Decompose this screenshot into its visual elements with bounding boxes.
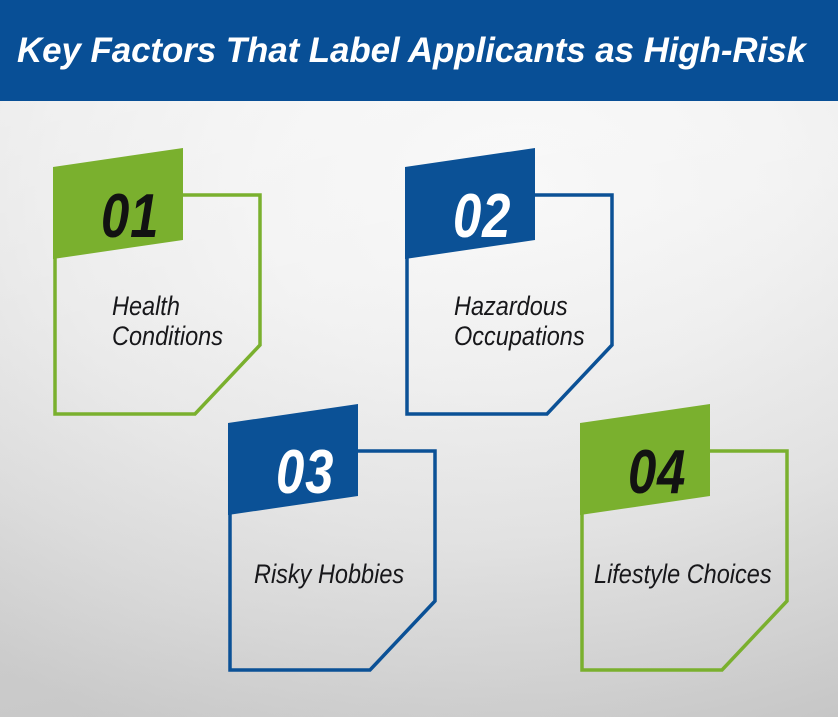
number-banner-01 [53, 148, 183, 259]
card-shape-01 [44, 140, 274, 425]
card-shape-04 [571, 396, 801, 681]
factor-card-01[interactable]: 01 Health Conditions [44, 140, 274, 425]
number-banner-02 [405, 148, 535, 259]
number-banner-04 [580, 404, 710, 515]
infographic-canvas: Key Factors That Label Applicants as Hig… [0, 0, 838, 717]
card-shape-02 [396, 140, 626, 425]
card-shape-03 [219, 396, 449, 681]
number-banner-03 [228, 404, 358, 515]
factor-card-02[interactable]: 02 Hazardous Occupations [396, 140, 626, 425]
factor-card-03[interactable]: 03 Risky Hobbies [219, 396, 449, 681]
page-title: Key Factors That Label Applicants as Hig… [17, 25, 817, 77]
factor-card-04[interactable]: 04 Lifestyle Choices [571, 396, 801, 681]
